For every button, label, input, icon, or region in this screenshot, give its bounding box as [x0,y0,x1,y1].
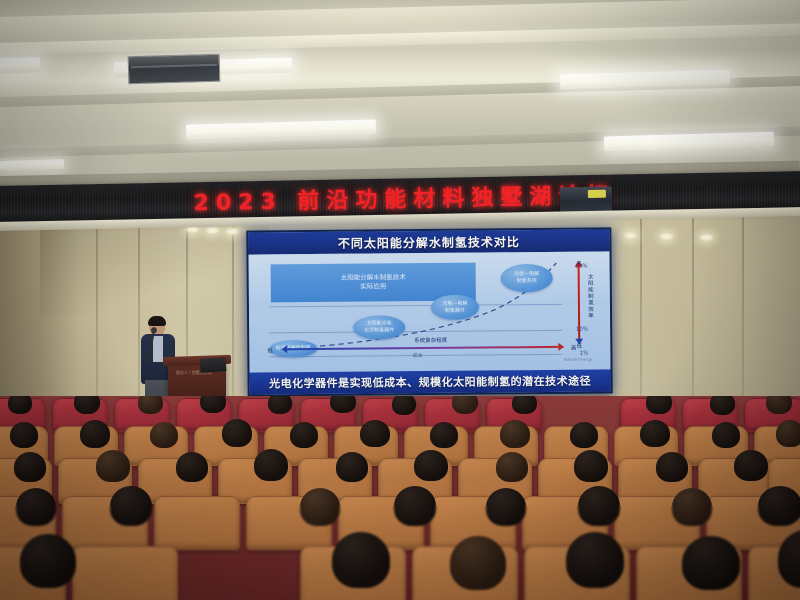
x-axis-low-label: 低 [267,346,273,354]
audience-head [14,452,46,482]
downlight [206,227,219,234]
audience-head [96,450,130,482]
audience-head [176,452,208,482]
projector-unit [560,187,612,214]
audience-head [74,396,100,414]
audience-head [414,450,448,481]
audience-head [222,419,252,447]
audience-head [656,452,688,482]
downlight [226,228,239,235]
audience-head [300,488,340,526]
downlight [700,234,713,241]
podium-laptop [200,357,227,373]
seat [72,546,178,600]
ceiling-panel-light [0,159,64,171]
x-axis-sublabel: 成本 [413,352,423,359]
audience-head [570,422,598,448]
audience-head [330,396,356,413]
audience-head [640,420,670,447]
audience-head [496,452,528,482]
x-axis-high-label: 高 [571,344,577,352]
audience-head [682,536,740,590]
audience-head [712,422,740,448]
audience-head [110,486,152,526]
audience-head [486,488,526,526]
downlight [624,232,637,239]
audience-head [254,449,288,481]
audience-head [566,532,624,588]
audience-head [16,488,56,526]
downlight [660,233,673,240]
audience-head [200,396,226,413]
audience-head [268,396,292,414]
speaker-shirt [153,336,163,362]
ceiling-panel-light [186,119,376,139]
audience-head [150,422,178,448]
audience-head [20,534,76,588]
audience-head [672,488,712,526]
projection-screen: 不同太阳能分解水制氢技术对比 太阳能分解水制氢技术实际应用 20% 10% 1%… [246,227,612,396]
audience-head [8,396,32,414]
audience-head [80,420,110,448]
audience-head [394,486,436,526]
y-axis-low-label: 低 [577,342,583,350]
slide-body: 太阳能分解水制氢技术实际应用 20% 10% 1% 光伏—电解制氢系统 光电—电… [248,251,610,372]
audience-head [776,420,800,447]
lecture-hall-photo: 2023 前沿功能材料独墅湖论坛 不同太阳能分解水制氢技术对比 太阳能分解水制氢… [0,0,800,600]
audience-head [430,422,458,448]
slide-title: 不同太阳能分解水制氢技术对比 [248,229,609,254]
audience-head [290,422,318,448]
audience-head [578,486,620,526]
ceiling [0,0,800,190]
audience-head [336,452,368,482]
audience-seating [0,396,800,600]
slide-chart: 太阳能分解水制氢技术实际应用 20% 10% 1% 光伏—电解制氢系统 光电—电… [265,258,597,367]
audience-head [450,536,506,590]
audience-head [766,396,792,414]
audience-head [710,396,735,415]
seat [154,496,240,550]
audience-head [500,420,530,448]
slide-footer: 光电化学器件是实现低成本、规模化太阳能制氢的潜在技术途径 [250,369,611,394]
audience-head [392,396,416,415]
speaker-hair [148,316,166,326]
audience-head [734,450,768,481]
ceiling-panel-light [0,57,40,74]
audience-head [452,396,478,414]
audience-head [138,396,163,414]
audience-head [360,420,390,447]
audience-head [758,486,800,526]
air-vent-icon [128,54,221,85]
audience-head [10,422,38,448]
audience-head [574,450,608,482]
audience-head [332,532,390,588]
slide: 不同太阳能分解水制氢技术对比 太阳能分解水制氢技术实际应用 20% 10% 1%… [248,229,610,394]
y-axis-high-label: 高 [576,260,582,268]
slide-credit: Nature Energy [564,357,593,362]
audience-head [512,396,537,414]
x-axis-label: 系统复杂程度 [414,336,447,344]
y-axis-label: 太阳能制氢效率 [586,274,594,320]
audience-head [646,396,672,414]
